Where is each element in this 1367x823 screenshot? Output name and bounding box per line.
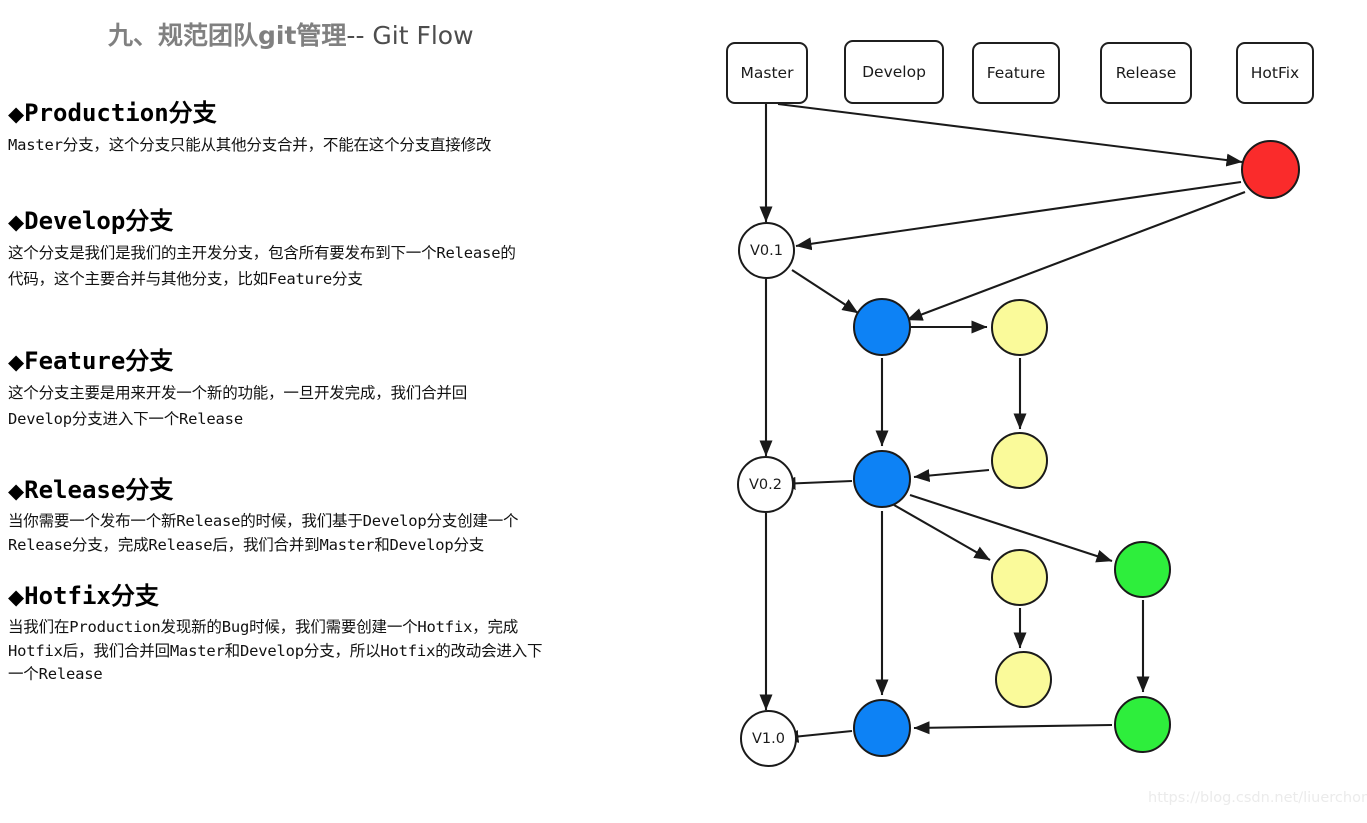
lane-box-hotfix[interactable]: HotFix [1236, 42, 1314, 104]
section-heading-text: Release分支 [24, 476, 173, 504]
body-line: Hotfix后，我们合并回Master和Develop分支，所以Hotfix的改… [8, 640, 688, 664]
commit-node-master-v01[interactable]: V0.1 [738, 222, 795, 279]
edge-hotfix-to-develop1 [907, 192, 1245, 320]
lane-label: Develop [862, 63, 926, 81]
section-body-hotfix: 当我们在Production发现新的Bug时候，我们需要创建一个Hotfix，完… [8, 616, 688, 687]
diamond-bullet-icon: ◆ [8, 210, 24, 234]
body-line: 这个分支主要是用来开发一个新的功能，一旦开发完成，我们合并回 [8, 381, 688, 406]
page-title-latin: -- Git Flow [346, 21, 473, 50]
diamond-bullet-icon: ◆ [8, 102, 24, 126]
lane-box-release[interactable]: Release [1100, 42, 1192, 104]
body-line: 一个Release [8, 663, 688, 687]
section-heading-develop: ◆Develop分支 [8, 208, 688, 234]
commit-node-feature-1[interactable] [991, 299, 1048, 356]
section-release: ◆Release分支 当你需要一个发布一个新Release的时候，我们基于Dev… [8, 477, 688, 557]
lane-label: Feature [987, 64, 1046, 82]
section-heading-release: ◆Release分支 [8, 477, 688, 503]
section-production: ◆Production分支 Master分支，这个分支只能从其他分支合并，不能在… [8, 100, 688, 159]
body-line: Release分支，完成Release后，我们合并到Master和Develop… [8, 534, 688, 558]
section-heading-text: Develop分支 [24, 207, 173, 235]
commit-node-master-v10[interactable]: V1.0 [740, 710, 797, 767]
diamond-bullet-icon: ◆ [8, 479, 24, 503]
section-body-feature: 这个分支主要是用来开发一个新的功能，一旦开发完成，我们合并回 Develop分支… [8, 381, 688, 431]
git-flow-diagram: Master Develop Feature Release HotFix V0… [700, 0, 1367, 823]
edge-release2-to-develop3 [914, 725, 1112, 728]
body-line: 这个分支是我们是我们的主开发分支，包含所有要发布到下一个Release的 [8, 241, 688, 266]
lane-label: HotFix [1251, 64, 1299, 82]
section-heading-production: ◆Production分支 [8, 100, 688, 126]
edge-hotfix-to-v01 [796, 182, 1241, 246]
section-body-develop: 这个分支是我们是我们的主开发分支，包含所有要发布到下一个Release的 代码，… [8, 241, 688, 291]
body-line: 当你需要一个发布一个新Release的时候，我们基于Develop分支创建一个 [8, 510, 688, 534]
lane-label: Master [741, 64, 794, 82]
page-title: 九、规范团队git管理-- Git Flow [108, 16, 474, 52]
edge-develop2-to-feature3 [894, 505, 990, 560]
commit-node-release-2[interactable] [1114, 696, 1171, 753]
section-heading-text: Production分支 [24, 99, 217, 127]
body-line: 代码，这个主要合并与其他分支，比如Feature分支 [8, 267, 688, 292]
diamond-bullet-icon: ◆ [8, 585, 24, 609]
section-heading-hotfix: ◆Hotfix分支 [8, 583, 688, 609]
commit-label: V0.1 [750, 243, 783, 259]
slide-root: 九、规范团队git管理-- Git Flow ◆Production分支 Mas… [0, 0, 1367, 823]
diamond-bullet-icon: ◆ [8, 350, 24, 374]
section-hotfix: ◆Hotfix分支 当我们在Production发现新的Bug时候，我们需要创建… [8, 583, 688, 687]
commit-node-develop-3[interactable] [853, 699, 911, 757]
commit-node-develop-2[interactable] [853, 450, 911, 508]
lane-box-feature[interactable]: Feature [972, 42, 1060, 104]
commit-node-feature-3[interactable] [991, 549, 1048, 606]
page-title-cjk: 九、规范团队git管理 [108, 21, 346, 50]
watermark: https://blog.csdn.net/liuerchong [1148, 790, 1367, 806]
section-heading-feature: ◆Feature分支 [8, 348, 688, 374]
section-body-release: 当你需要一个发布一个新Release的时候，我们基于Develop分支创建一个 … [8, 510, 688, 557]
section-feature: ◆Feature分支 这个分支主要是用来开发一个新的功能，一旦开发完成，我们合并… [8, 348, 688, 432]
edge-feature2-to-develop2 [914, 470, 989, 477]
lane-box-develop[interactable]: Develop [844, 40, 944, 104]
commit-node-hotfix-1[interactable] [1241, 140, 1300, 199]
lane-label: Release [1116, 64, 1177, 82]
section-heading-text: Hotfix分支 [24, 582, 159, 610]
lane-box-master[interactable]: Master [726, 42, 808, 104]
body-line: Master分支，这个分支只能从其他分支合并，不能在这个分支直接修改 [8, 133, 688, 158]
body-line: 当我们在Production发现新的Bug时候，我们需要创建一个Hotfix，完… [8, 616, 688, 640]
section-heading-text: Feature分支 [24, 347, 173, 375]
section-develop: ◆Develop分支 这个分支是我们是我们的主开发分支，包含所有要发布到下一个R… [8, 208, 688, 292]
body-line: Develop分支进入下一个Release [8, 407, 688, 432]
commit-label: V1.0 [752, 731, 785, 747]
edge-master-to-hotfix [778, 104, 1242, 162]
section-body-production: Master分支，这个分支只能从其他分支合并，不能在这个分支直接修改 [8, 133, 688, 158]
commit-node-feature-2[interactable] [991, 432, 1048, 489]
edge-v01-to-develop1 [792, 270, 858, 313]
commit-node-master-v02[interactable]: V0.2 [737, 456, 794, 513]
text-pane: 九、规范团队git管理-- Git Flow ◆Production分支 Mas… [0, 0, 700, 823]
commit-node-release-1[interactable] [1114, 541, 1171, 598]
commit-label: V0.2 [749, 477, 782, 493]
commit-node-develop-1[interactable] [853, 298, 911, 356]
commit-node-feature-4[interactable] [995, 651, 1052, 708]
